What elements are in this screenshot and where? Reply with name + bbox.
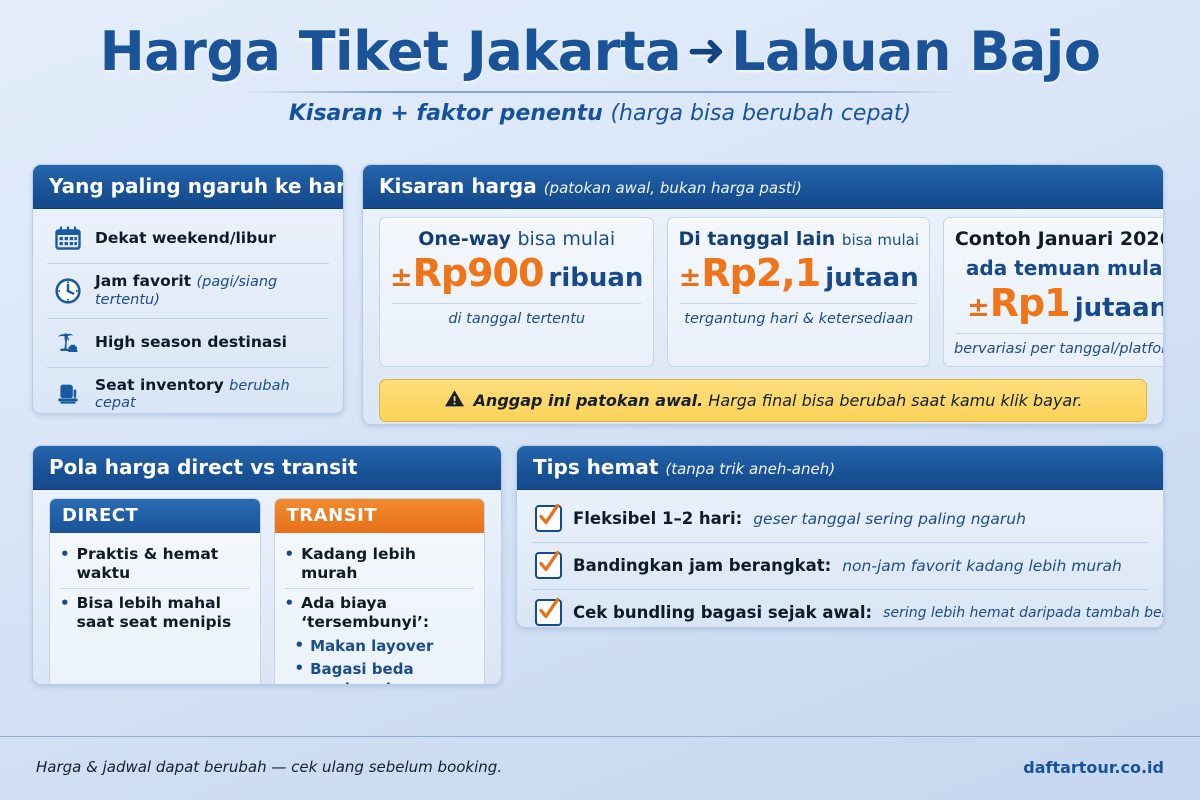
price-card-list: One-way bisa mulai ±Rp900 ribuan di tang… — [377, 215, 1149, 367]
price-card-subtitle: ada temuan mulai — [954, 256, 1164, 280]
tip-row-bandingkan-jam: Bandingkan jam berangkat: non-jam favori… — [531, 543, 1149, 590]
card-divider — [956, 333, 1164, 334]
pola-column-list: DIRECT • Praktis & hemat waktu • Bisa le… — [47, 496, 487, 685]
price-card-title: Contoh Januari 2026: — [954, 228, 1164, 250]
factor-label: High season destinasi — [95, 334, 287, 352]
checkbox-checked-icon — [535, 505, 562, 532]
factor-row-jam-favorit: Jam favorit (pagi/siang tertentu) — [47, 264, 329, 319]
bullet-dot-icon: • — [60, 594, 70, 631]
tip-label: Bandingkan jam berangkat: — [573, 556, 831, 575]
price-range-heading: Kisaran harga (patokan awal, bukan harga… — [363, 165, 1163, 209]
sub-list-item: • Makan layover — [295, 635, 475, 657]
arrow-icon: ➜ — [687, 26, 725, 74]
factor-row-weekend: Dekat weekend/libur — [47, 215, 329, 264]
sub-list-item-text: Makan layover — [310, 636, 433, 656]
checkbox-checked-icon — [535, 552, 562, 579]
price-unit: ribuan — [549, 263, 644, 293]
factor-label: Dekat weekend/libur — [95, 230, 276, 248]
pola-panel: Pola harga direct vs transit DIRECT • Pr… — [32, 445, 502, 685]
pola-column-title: DIRECT — [50, 499, 260, 533]
page-title: Harga Tiket Jakarta➜Labuan Bajo — [0, 24, 1200, 81]
factor-label-text: Seat inventory — [95, 376, 224, 394]
pola-panel-body: DIRECT • Praktis & hemat waktu • Bisa le… — [33, 490, 501, 685]
price-card-note: tergantung hari & ketersediaan — [678, 311, 919, 327]
price-warning-banner: Anggap ini patokan awal. Harga final bis… — [379, 379, 1147, 422]
tips-panel-heading-note: (tanpa trik aneh-aneh) — [665, 460, 835, 478]
pola-column-direct: DIRECT • Praktis & hemat waktu • Bisa le… — [49, 498, 261, 685]
price-card-title: Di tanggal lain bisa mulai — [678, 228, 919, 250]
list-item: • Bisa lebih mahal saat seat menipis — [60, 589, 250, 637]
list-item: • Kadang lebih murah — [285, 540, 475, 589]
bullet-dot-icon: • — [285, 594, 295, 631]
price-unit: jutaan — [825, 263, 918, 293]
factor-label-text: Jam favorit — [95, 272, 191, 290]
price-card-title-bold: Di tanggal lain — [678, 228, 835, 250]
price-range-heading-text: Kisaran harga — [379, 174, 537, 198]
title-destination: Labuan Bajo — [731, 20, 1100, 83]
tip-label: Cek bundling bagasi sejak awal: — [573, 603, 872, 622]
clock-icon — [53, 276, 83, 306]
price-card-one-way: One-way bisa mulai ±Rp900 ribuan di tang… — [379, 217, 654, 367]
tips-panel: Tips hemat (tanpa trik aneh-aneh) Fleksi… — [516, 445, 1164, 628]
warning-text: Anggap ini patokan awal. Harga final bis… — [474, 391, 1083, 410]
list-item-text: Kadang lebih murah — [301, 545, 474, 582]
price-card-note: di tanggal tertentu — [390, 311, 643, 327]
price-range-heading-note: (patokan awal, bukan harga pasti) — [544, 179, 802, 197]
page-subtitle: Kisaran + faktor penentu (harga bisa ber… — [0, 101, 1200, 126]
list-item-text: Ada biaya ‘tersembunyi’: — [301, 594, 474, 631]
price-value: Rp900 — [413, 251, 544, 295]
price-card-example-january: Contoh Januari 2026: ada temuan mulai ±R… — [943, 217, 1164, 367]
title-divider — [240, 91, 960, 93]
price-card-amount: ±Rp900 ribuan — [390, 254, 643, 294]
bullet-dot-icon: • — [285, 545, 295, 582]
price-card-note: bervariasi per tanggal/platform — [954, 341, 1164, 357]
price-card-amount: ±Rp2,1 jutaan — [678, 254, 919, 294]
footer-note: Harga & jadwal dapat berubah — cek ulang… — [36, 758, 502, 776]
pola-column-transit: TRANSIT • Kadang lebih murah • Ada biaya… — [274, 498, 486, 685]
checkbox-checked-icon — [535, 599, 562, 626]
price-card-title-bold: One-way — [418, 228, 511, 250]
subtitle-main: Kisaran + faktor penentu — [289, 101, 603, 126]
price-card-other-dates: Di tanggal lain bisa mulai ±Rp2,1 jutaan… — [667, 217, 930, 367]
price-card-title-light: bisa mulai — [518, 228, 616, 250]
footer-brand[interactable]: daftartour.co.id — [1023, 758, 1164, 777]
subtitle-note: (harga bisa berubah cepat) — [610, 101, 911, 126]
warning-text-bold: Anggap ini patokan awal. — [474, 391, 704, 410]
tip-detail: non-jam favorit kadang lebih murah — [842, 557, 1122, 575]
price-range-body: One-way bisa mulai ±Rp900 ribuan di tang… — [363, 209, 1163, 425]
tips-panel-heading-text: Tips hemat — [533, 455, 658, 479]
price-value: Rp1 — [990, 281, 1070, 325]
factor-label-text: Dekat weekend/libur — [95, 229, 276, 247]
factors-panel-heading: Yang paling ngaruh ke harga — [33, 165, 343, 209]
list-item-text: Bisa lebih mahal saat seat menipis — [77, 594, 250, 631]
price-card-title: One-way bisa mulai — [390, 228, 643, 250]
infographic-canvas: Harga Tiket Jakarta➜Labuan Bajo Kisaran … — [0, 0, 1200, 800]
card-divider — [392, 303, 641, 304]
palm-tree-icon — [53, 328, 83, 358]
price-value: Rp2,1 — [701, 251, 820, 295]
plusminus-symbol: ± — [390, 262, 413, 293]
warning-text-rest: Harga final bisa berubah saat kamu klik … — [708, 391, 1082, 410]
factor-label-text: High season destinasi — [95, 333, 287, 351]
plusminus-symbol: ± — [967, 292, 990, 323]
tip-row-bundling-bagasi: Cek bundling bagasi sejak awal: sering l… — [531, 590, 1149, 628]
pola-column-body: • Praktis & hemat waktu • Bisa lebih mah… — [50, 533, 260, 685]
bullet-dot-icon: • — [60, 545, 70, 582]
tip-row-fleksibel: Fleksibel 1–2 hari: geser tanggal sering… — [531, 496, 1149, 543]
plusminus-symbol: ± — [679, 262, 702, 293]
page-header: Harga Tiket Jakarta➜Labuan Bajo Kisaran … — [0, 24, 1200, 126]
sub-list: • Makan layover • Bagasi beda maskapai •… — [295, 635, 475, 685]
bullet-dot-icon: • — [295, 636, 305, 656]
card-divider — [680, 303, 917, 304]
footer: Harga & jadwal dapat berubah — cek ulang… — [0, 752, 1200, 782]
footer-divider — [0, 736, 1200, 737]
list-item-text: Praktis & hemat waktu — [77, 545, 250, 582]
airplane-seat-icon — [53, 379, 83, 409]
price-card-amount: ±Rp1 jutaan — [954, 284, 1164, 324]
pola-column-title: TRANSIT — [275, 499, 485, 533]
price-unit: jutaan — [1075, 293, 1164, 323]
pola-column-body: • Kadang lebih murah • Ada biaya ‘tersem… — [275, 533, 485, 685]
tip-detail: sering lebih hemat daripada tambah belak… — [883, 605, 1164, 621]
list-item: • Ada biaya ‘tersembunyi’: • Makan layov… — [285, 589, 475, 685]
factor-label: Jam favorit (pagi/siang tertentu) — [95, 273, 325, 309]
factor-row-high-season: High season destinasi — [47, 319, 329, 368]
price-card-title-light: bisa mulai — [842, 231, 919, 249]
sub-list-item: • Bagasi beda maskapai — [295, 658, 475, 685]
sub-list-item-text: Bagasi beda maskapai — [310, 659, 474, 685]
calendar-icon — [53, 224, 83, 254]
factors-panel-body: Dekat weekend/libur Jam favorit (pagi/si… — [33, 209, 343, 414]
tip-label: Fleksibel 1–2 hari: — [573, 509, 742, 528]
pola-panel-heading: Pola harga direct vs transit — [33, 446, 501, 490]
price-card-title-bold: Contoh Januari 2026: — [955, 228, 1164, 250]
tips-panel-body: Fleksibel 1–2 hari: geser tanggal sering… — [517, 490, 1163, 628]
factor-label: Seat inventory berubah cepat — [95, 377, 325, 413]
factor-row-seat-inventory: Seat inventory berubah cepat — [47, 368, 329, 414]
tips-panel-heading: Tips hemat (tanpa trik aneh-aneh) — [517, 446, 1163, 490]
title-origin: Harga Tiket Jakarta — [100, 20, 681, 83]
tip-detail: geser tanggal sering paling ngaruh — [753, 510, 1026, 528]
bullet-dot-icon: • — [295, 659, 305, 685]
list-item: • Praktis & hemat waktu — [60, 540, 250, 589]
warning-triangle-icon — [444, 389, 465, 412]
factors-panel: Yang paling ngaruh ke harga — [32, 164, 344, 414]
price-range-panel: Kisaran harga (patokan awal, bukan harga… — [362, 164, 1164, 425]
